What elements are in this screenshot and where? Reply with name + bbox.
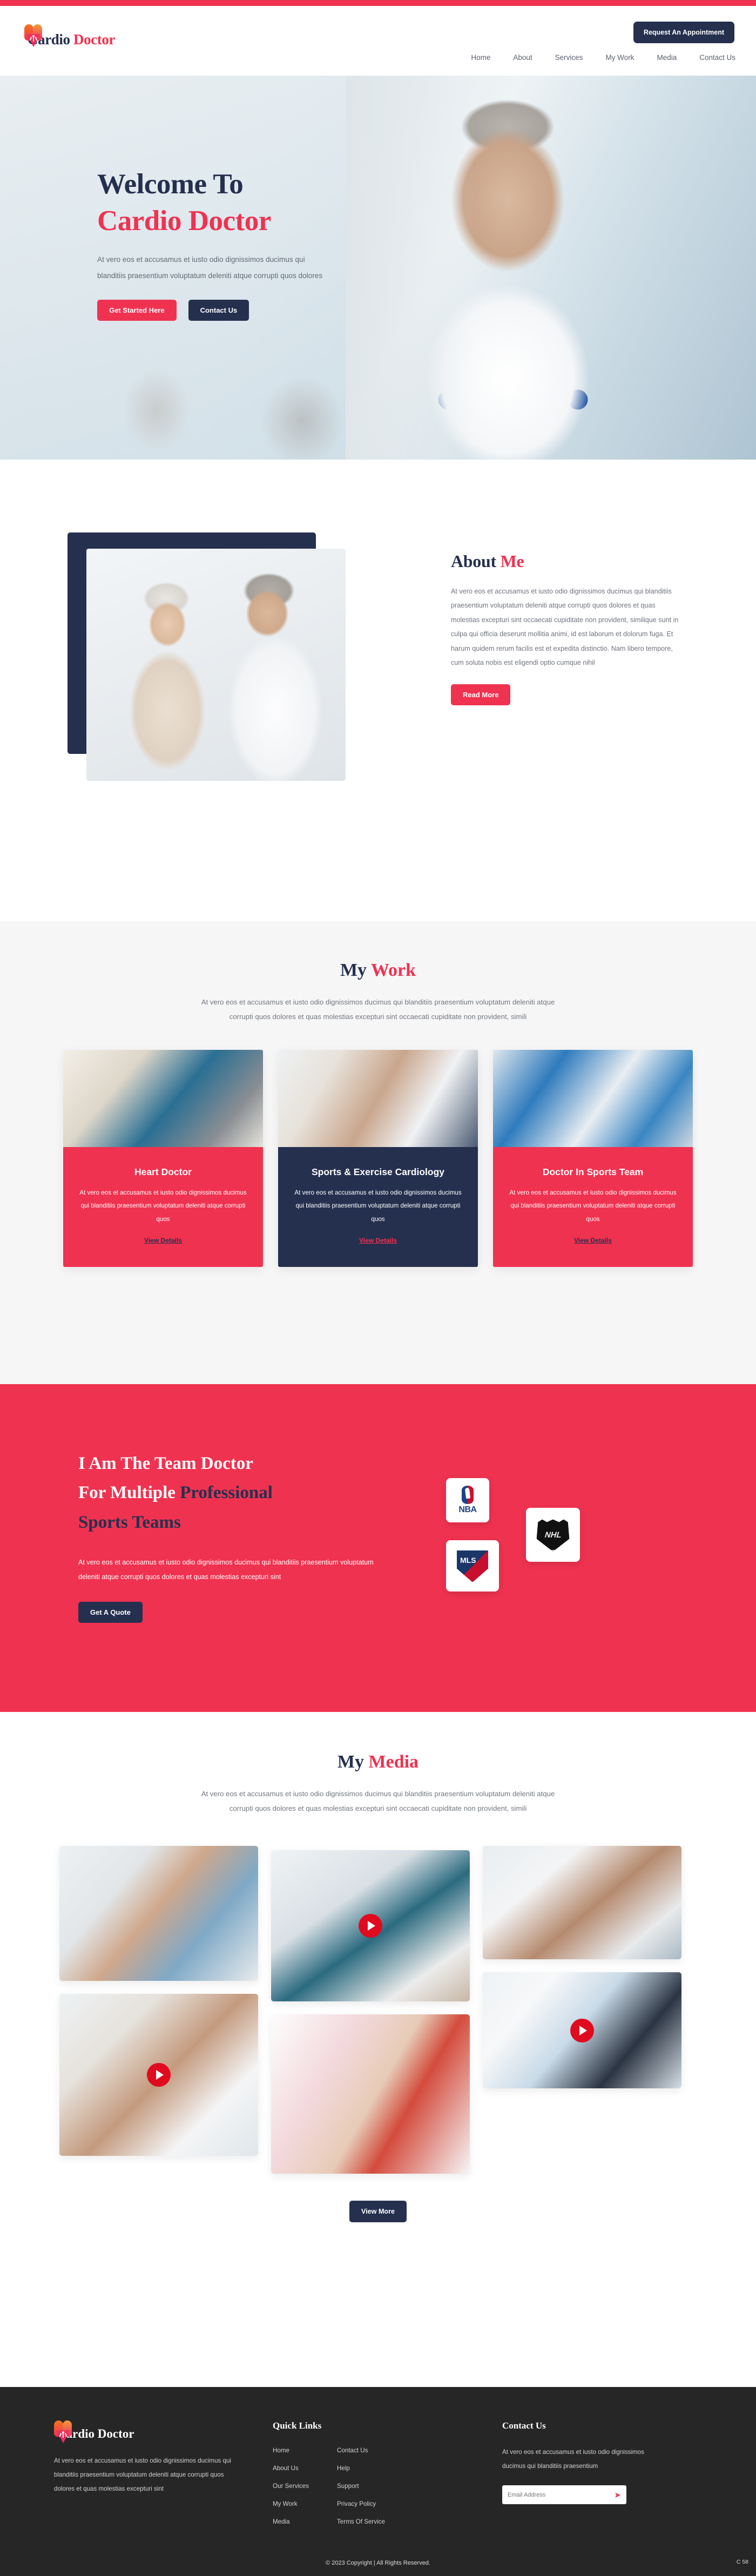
media-tile[interactable] — [59, 1846, 258, 1981]
hero-title: Welcome To Cardio Doctor — [97, 166, 756, 240]
footer-link-home[interactable]: Home — [273, 2447, 289, 2454]
work-card-text: At vero eos et accusamus et iusto odio d… — [294, 1186, 462, 1226]
footer-about-column: Cardio Doctor At vero eos et accusamus e… — [54, 2420, 243, 2496]
my-work-subtitle: At vero eos et accusamus et iusto odio d… — [189, 995, 567, 1024]
my-media-title-main: My — [337, 1752, 364, 1772]
watermark: C 58 — [737, 2559, 748, 2565]
play-icon[interactable] — [147, 2063, 171, 2087]
hero-title-line2: Cardio Doctor — [97, 203, 756, 240]
footer-quick-links-heading: Quick Links — [273, 2420, 429, 2431]
nhl-shield-icon: NHL — [535, 1518, 571, 1552]
teams-title-part2: For Multiple — [78, 1483, 180, 1502]
media-grid — [59, 1846, 697, 2174]
work-card[interactable]: Sports & Exercise Cardiology At vero eos… — [278, 1050, 478, 1267]
heart-logo-icon — [54, 2420, 70, 2442]
work-card-view-details-link[interactable]: View Details — [574, 1237, 612, 1244]
get-a-quote-button[interactable]: Get A Quote — [78, 1602, 143, 1623]
media-tile-video[interactable] — [483, 1972, 681, 2088]
my-media-title-accent: Media — [369, 1752, 419, 1772]
teams-title-accent1: Professional — [180, 1483, 273, 1502]
about-title: About Me — [451, 551, 683, 571]
mls-logo: MLS — [446, 1540, 499, 1592]
site-header: Cardio Doctor Request An Appointment Hom… — [0, 6, 756, 76]
footer-link-support[interactable]: Support — [337, 2483, 359, 2490]
footer-quick-links-column: Quick Links Home About Us Our Services M… — [273, 2420, 429, 2534]
my-media-section: My Media At vero eos et accusamus et ius… — [0, 1712, 756, 2387]
hero-section: Welcome To Cardio Doctor At vero eos et … — [0, 76, 756, 460]
teams-title: I Am The Team Doctor For Multiple Profes… — [78, 1449, 413, 1537]
newsletter-form[interactable]: ➤ — [502, 2485, 626, 2504]
main-navigation: Home About Services My Work Media Contac… — [471, 53, 735, 62]
work-card[interactable]: Heart Doctor At vero eos et accusamus et… — [63, 1050, 263, 1267]
footer-link-my-work[interactable]: My Work — [273, 2500, 298, 2507]
paper-plane-icon[interactable]: ➤ — [614, 2490, 621, 2500]
nhl-wordmark: NHL — [543, 1530, 563, 1540]
my-work-section: My Work At vero eos et accusamus et iust… — [0, 921, 756, 1384]
mls-shield-icon: MLS — [456, 1549, 489, 1583]
play-icon[interactable] — [570, 2019, 594, 2042]
request-appointment-button[interactable]: Request An Appointment — [633, 22, 734, 43]
media-tile-video[interactable] — [59, 1994, 258, 2156]
nba-player-icon — [462, 1486, 474, 1504]
hero-paragraph: At vero eos et accusamus et iusto odio d… — [97, 252, 329, 285]
logo-text-accent: Doctor — [73, 31, 115, 48]
work-card-title: Sports & Exercise Cardiology — [294, 1166, 462, 1178]
footer-link-about-us[interactable]: About Us — [273, 2465, 299, 2472]
work-card-view-details-link[interactable]: View Details — [144, 1237, 182, 1244]
footer-link-contact-us[interactable]: Contact Us — [337, 2447, 368, 2454]
nav-item-contact-us[interactable]: Contact Us — [699, 53, 735, 62]
my-work-title: My Work — [0, 960, 756, 981]
work-card-text: At vero eos et accusamus et iusto odio d… — [509, 1186, 677, 1226]
work-card[interactable]: Doctor In Sports Team At vero eos et acc… — [493, 1050, 693, 1267]
nav-item-services[interactable]: Services — [555, 53, 583, 62]
media-tile[interactable] — [271, 2014, 470, 2174]
about-photo — [86, 549, 346, 781]
mls-wordmark: MLS — [460, 1556, 476, 1565]
footer-link-terms-of-service[interactable]: Terms Of Service — [337, 2518, 385, 2525]
footer-link-our-services[interactable]: Our Services — [273, 2483, 309, 2490]
work-card-title: Heart Doctor — [79, 1166, 247, 1178]
nav-item-home[interactable]: Home — [471, 53, 490, 62]
about-title-main: About — [451, 551, 496, 571]
my-work-title-accent: Work — [371, 960, 416, 980]
page-root: Cardio Doctor Request An Appointment Hom… — [0, 0, 756, 2576]
sports-teams-section: I Am The Team Doctor For Multiple Profes… — [0, 1384, 756, 1712]
nba-logo: NBA — [446, 1478, 489, 1522]
footer-contact-column: Contact Us At vero eos et accusamus et i… — [502, 2420, 664, 2504]
nhl-logo: NHL — [526, 1508, 580, 1562]
teams-title-part1: I Am The Team Doctor — [78, 1454, 253, 1473]
media-tile[interactable] — [483, 1846, 681, 1959]
my-work-card-list: Heart Doctor At vero eos et accusamus et… — [0, 1050, 756, 1267]
my-work-title-main: My — [340, 960, 367, 980]
footer-links-col1: Home About Us Our Services My Work Media — [273, 2445, 309, 2534]
footer-about-text: At vero eos et accusamus et iusto odio d… — [54, 2454, 243, 2496]
work-card-title: Doctor In Sports Team — [509, 1166, 677, 1178]
view-more-button[interactable]: View More — [349, 2201, 407, 2222]
top-accent-strip — [0, 0, 756, 6]
work-card-view-details-link[interactable]: View Details — [359, 1237, 397, 1244]
my-media-title: My Media — [0, 1752, 756, 1772]
work-card-text: At vero eos et accusamus et iusto odio d… — [79, 1186, 247, 1226]
my-media-subtitle: At vero eos et accusamus et iusto odio d… — [189, 1786, 567, 1816]
email-input[interactable] — [508, 2492, 614, 2498]
nba-wordmark: NBA — [458, 1505, 476, 1515]
read-more-button[interactable]: Read More — [451, 684, 510, 705]
about-section: About Me At vero eos et accusamus et ius… — [0, 460, 756, 921]
get-started-button[interactable]: Get Started Here — [97, 300, 177, 321]
league-logo-group: NBA NHL MLS — [446, 1478, 678, 1619]
hero-contact-us-button[interactable]: Contact Us — [188, 300, 249, 321]
teams-paragraph: At vero eos et accusamus et iusto odio d… — [78, 1555, 381, 1584]
work-card-image — [278, 1050, 478, 1147]
heart-logo-icon — [24, 24, 43, 48]
footer-links-col2: Contact Us Help Support Privacy Policy T… — [337, 2445, 385, 2534]
about-paragraph: At vero eos et accusamus et iusto odio d… — [451, 584, 683, 670]
copyright-text: © 2023 Copyright | All Rights Reserved. — [0, 2560, 756, 2566]
work-card-image — [63, 1050, 263, 1147]
site-footer: Cardio Doctor At vero eos et accusamus e… — [0, 2387, 756, 2576]
media-tile-video[interactable] — [271, 1850, 470, 2001]
footer-link-help[interactable]: Help — [337, 2465, 350, 2472]
nav-item-about[interactable]: About — [513, 53, 532, 62]
footer-logo[interactable]: Cardio Doctor — [54, 2420, 243, 2442]
about-title-accent: Me — [501, 551, 524, 571]
teams-title-accent2: Sports Teams — [78, 1513, 181, 1532]
footer-link-media[interactable]: Media — [273, 2518, 290, 2525]
nav-item-media[interactable]: Media — [657, 53, 677, 62]
footer-contact-text: At vero eos et accusamus et iusto odio d… — [502, 2445, 664, 2473]
play-icon[interactable] — [359, 1914, 382, 1938]
footer-contact-heading: Contact Us — [502, 2420, 664, 2431]
hero-title-line1: Welcome To — [97, 168, 243, 200]
site-logo[interactable]: Cardio Doctor — [24, 24, 115, 48]
work-card-image — [493, 1050, 693, 1147]
about-image-group — [67, 532, 346, 781]
nav-item-my-work[interactable]: My Work — [605, 53, 634, 62]
footer-link-privacy-policy[interactable]: Privacy Policy — [337, 2500, 376, 2507]
